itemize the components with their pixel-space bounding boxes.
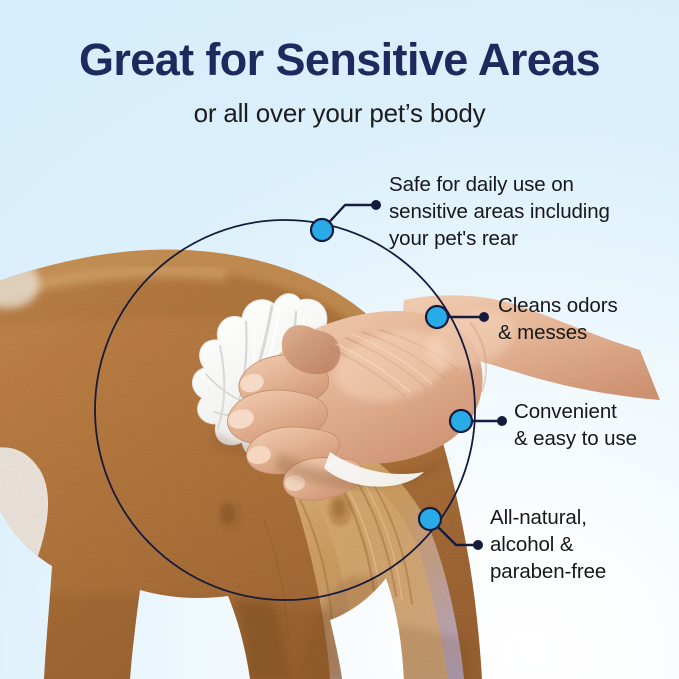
callout-label-cleans-odors: Cleans odors & messes <box>498 292 618 346</box>
callout-label-convenient-easy: Convenient & easy to use <box>514 398 637 452</box>
callout-label-all-natural: All-natural, alcohol & paraben-free <box>490 504 606 585</box>
page-title: Great for Sensitive Areas <box>0 34 679 86</box>
page-subtitle: or all over your pet’s body <box>0 97 679 129</box>
product-feature-graphic: Great for Sensitive Areas or all over yo… <box>0 0 679 679</box>
callout-label-safe-daily-use: Safe for daily use on sensitive areas in… <box>389 171 610 252</box>
